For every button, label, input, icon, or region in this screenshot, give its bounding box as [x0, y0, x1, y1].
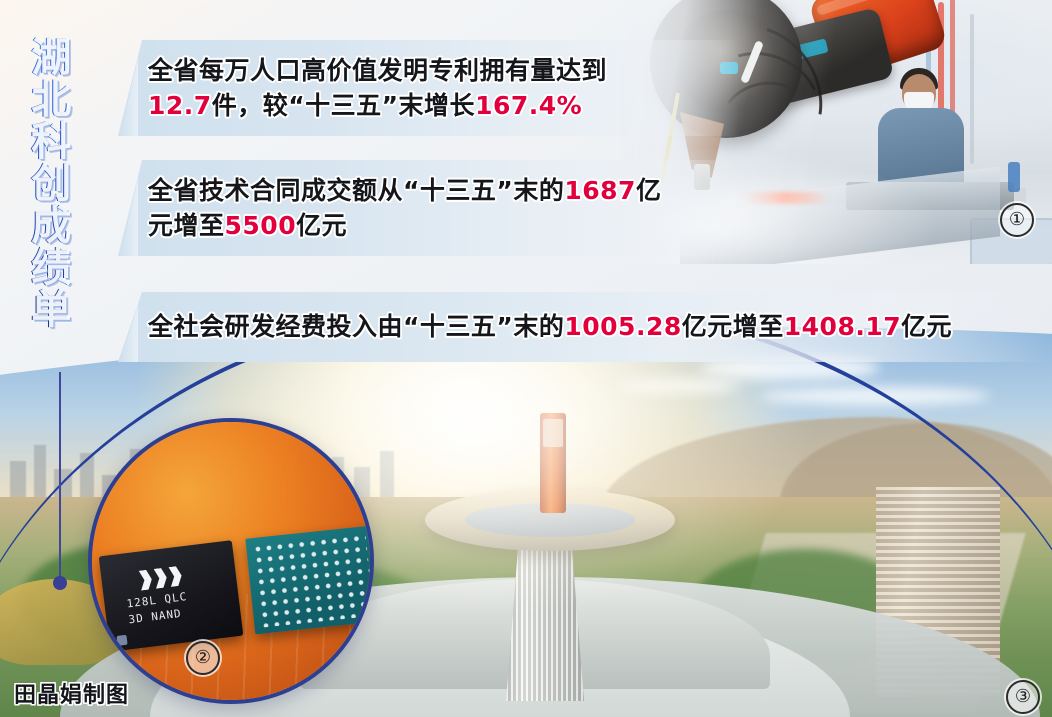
fact-banner-patents: 全省每万人口高价值发明专利拥有量达到 12.7件，较“十三五”末增长167.4%	[118, 40, 738, 136]
fact2-line1-post: 亿	[636, 176, 662, 205]
photo-marker-2: ②	[186, 641, 220, 675]
chip-corner-mark	[116, 635, 127, 646]
infographic-poster: 128L QLC 3D NAND 湖北科创成绩单 全省每万人口高价值发明专利拥有…	[0, 0, 1052, 717]
fact1-line2-mid: 件，较“十三五”末增长	[212, 91, 475, 120]
ymtc-logo-icon	[139, 563, 193, 591]
calla-lily-tower-mast	[540, 413, 566, 513]
photo-marker-3: ③	[1006, 680, 1040, 714]
nand-flash-chip: 128L QLC 3D NAND	[99, 540, 244, 652]
fact3-pre: 全社会研发经费投入由“十三五”末的	[148, 312, 564, 341]
cloud-2	[760, 387, 990, 405]
fact3-mid: 亿元增至	[682, 312, 784, 341]
fact2-line2-pre: 元增至	[148, 211, 225, 240]
fact2-value-1: 1687	[564, 176, 636, 205]
fact1-value-1: 12.7	[148, 91, 212, 120]
fact-banner-rd-spending: 全社会研发经费投入由“十三五”末的1005.28亿元增至1408.17亿元	[118, 292, 1048, 362]
photo-marker-1: ①	[1000, 203, 1034, 237]
fact-text-patents: 全省每万人口高价值发明专利拥有量达到 12.7件，较“十三五”末增长167.4%	[148, 53, 607, 124]
title-leader-line	[59, 372, 61, 580]
fact-banner-tech-contracts: 全省技术合同成交额从“十三五”末的1687亿 元增至5500亿元	[118, 160, 738, 256]
fact2-value-2: 5500	[225, 211, 297, 240]
fact1-line1: 全省每万人口高价值发明专利拥有量达到	[148, 56, 607, 85]
fact3-value-1: 1005.28	[564, 312, 681, 341]
page-title: 湖北科创成绩单	[24, 36, 67, 330]
pipe-grey	[970, 14, 974, 164]
cloud-3	[620, 379, 740, 393]
fact3-post: 亿元	[901, 312, 952, 341]
fact-text-rd-spending: 全社会研发经费投入由“十三五”末的1005.28亿元增至1408.17亿元	[148, 309, 952, 345]
fact2-line2-post: 亿元	[296, 211, 347, 240]
fact1-value-2: 167.4%	[475, 91, 582, 120]
photo-memory-chip-inset: 128L QLC 3D NAND	[88, 418, 374, 704]
fact3-value-2: 1408.17	[784, 312, 901, 341]
bga-substrate-chip	[245, 526, 374, 635]
blue-bottle	[1008, 162, 1020, 192]
title-leader-dot	[53, 576, 67, 590]
fact2-line1-pre: 全省技术合同成交额从“十三五”末的	[148, 176, 564, 205]
solder-ball-grid	[252, 532, 374, 627]
chip-label-line-2: 3D NAND	[128, 607, 183, 626]
illustrator-credit: 田晶娟制图	[14, 677, 129, 709]
fact-text-tech-contracts: 全省技术合同成交额从“十三五”末的1687亿 元增至5500亿元	[148, 173, 661, 244]
